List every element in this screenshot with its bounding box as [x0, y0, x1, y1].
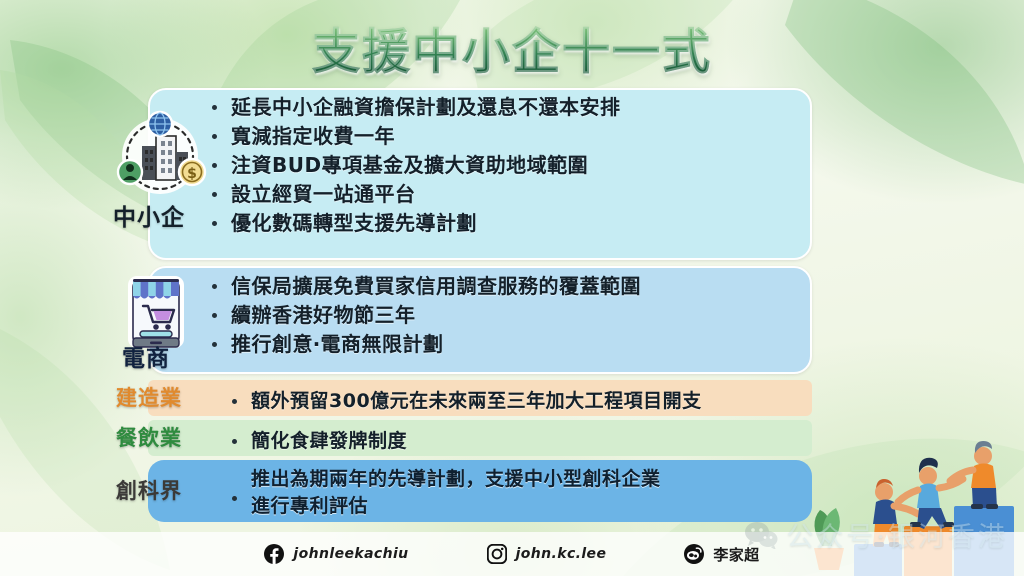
- list-item: 信保局擴展免費買家信用調查服務的覆蓋範圍: [212, 272, 641, 301]
- facebook-handle: johnleekachiu: [293, 546, 408, 562]
- list-item: 推行創意‧電商無限計劃: [212, 330, 641, 359]
- bullet-dot: [232, 496, 237, 501]
- wechat-icon: [744, 521, 778, 549]
- bullet-dot: [212, 134, 217, 139]
- bullet-text: 寬減指定收費一年: [231, 122, 395, 151]
- list-item: 優化數碼轉型支援先導計劃: [212, 209, 621, 238]
- weibo-icon: [684, 544, 704, 564]
- list-item: 注資BUD專項基金及擴大資助地域範圍: [212, 151, 621, 180]
- list-item: 設立經貿一站通平台: [212, 180, 621, 209]
- page-title-wrap: 支援中小企十一式: [0, 12, 1024, 82]
- social-facebook[interactable]: johnleekachiu: [264, 544, 408, 564]
- bullet-text: 推行創意‧電商無限計劃: [231, 330, 443, 359]
- list-item: 續辦香港好物節三年: [212, 301, 641, 330]
- bullet-dot: [212, 284, 217, 289]
- bullet-dot: [212, 221, 217, 226]
- bullet-dot: [232, 439, 237, 444]
- list-item: 延長中小企融資擔保計劃及還息不還本安排: [212, 93, 621, 122]
- row-text-line1: 推出為期兩年的先導計劃，支援中小型創科企業: [251, 466, 661, 493]
- bullet-dot: [212, 163, 217, 168]
- bullet-list-sme: 延長中小企融資擔保計劃及還息不還本安排 寬減指定收費一年 注資BUD專項基金及擴…: [212, 93, 621, 238]
- bullet-dot: [212, 105, 217, 110]
- category-label-catering: 餐飲業: [116, 422, 182, 452]
- bullet-text: 設立經貿一站通平台: [231, 180, 416, 209]
- page-title: 支援中小企十一式: [312, 12, 712, 82]
- bullet-dot: [232, 399, 237, 404]
- row-construction: 額外預留300億元在未來兩至三年加大工程項目開支: [232, 388, 702, 414]
- row-text: 額外預留300億元在未來兩至三年加大工程項目開支: [251, 388, 702, 414]
- bullet-text: 延長中小企融資擔保計劃及還息不還本安排: [231, 93, 621, 122]
- bullet-dot: [212, 342, 217, 347]
- bullet-text: 優化數碼轉型支援先導計劃: [231, 209, 477, 238]
- facebook-icon: [264, 544, 284, 564]
- row-catering: 簡化食肆發牌制度: [232, 428, 407, 454]
- bullet-list-ecommerce: 信保局擴展免費買家信用調查服務的覆蓋範圍 續辦香港好物節三年 推行創意‧電商無限…: [212, 272, 641, 359]
- bullet-text: 續辦香港好物節三年: [231, 301, 416, 330]
- list-item: 寬減指定收費一年: [212, 122, 621, 151]
- category-label-ecommerce: 電商: [122, 339, 170, 373]
- bullet-text: 信保局擴展免費買家信用調查服務的覆蓋範圍: [231, 272, 641, 301]
- category-label-sme: 中小企: [113, 198, 185, 232]
- sme-building-globe-icon: $: [108, 110, 212, 202]
- row-text: 簡化食肆發牌制度: [251, 428, 407, 454]
- bullet-dot: [212, 192, 217, 197]
- instagram-handle: john.kc.lee: [516, 546, 607, 562]
- category-label-construction: 建造業: [116, 382, 182, 412]
- instagram-icon: [487, 544, 507, 564]
- row-innotech: 推出為期兩年的先導計劃，支援中小型創科企業 進行專利評估: [232, 466, 661, 520]
- bullet-text: 注資BUD專項基金及擴大資助地域範圍: [231, 151, 588, 180]
- bullet-dot: [212, 313, 217, 318]
- social-instagram[interactable]: john.kc.lee: [487, 544, 607, 564]
- svg-text:$: $: [187, 166, 197, 182]
- category-label-innotech: 創科界: [116, 475, 182, 505]
- wechat-watermark: 公众号·银河香港: [744, 515, 1008, 554]
- watermark-text: 公众号·银河香港: [786, 515, 1008, 554]
- row-text-line2: 進行專利評估: [251, 493, 661, 520]
